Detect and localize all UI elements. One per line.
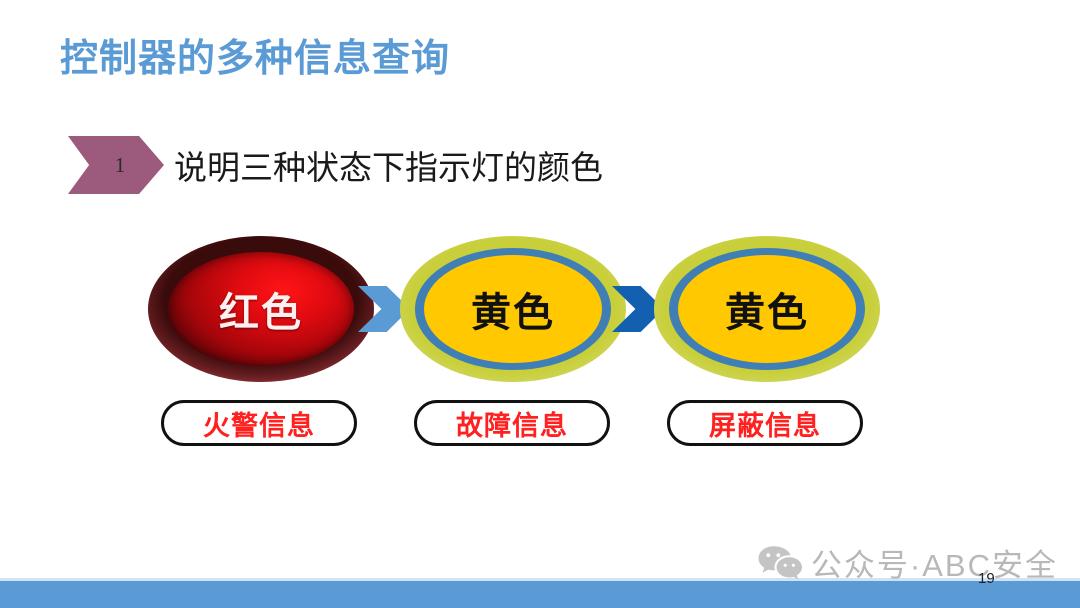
watermark: 公众号·ABC安全: [757, 540, 1058, 585]
status-light-yellow-isolate: 黄色: [654, 236, 880, 382]
caption-pill-fault: 故障信息: [414, 400, 610, 446]
caption-row: 火警信息 故障信息 屏蔽信息: [0, 400, 1080, 448]
watermark-text: 公众号·ABC安全: [811, 540, 1058, 585]
step-row: 1 说明三种状态下指示灯的颜色: [68, 136, 603, 194]
caption-pill-fire-alarm: 火警信息: [161, 400, 357, 446]
page-number: 19: [978, 570, 995, 587]
step-chevron-badge: 1: [68, 136, 164, 194]
caption-label-fire-alarm: 火警信息: [203, 404, 315, 443]
step-description: 说明三种状态下指示灯的颜色: [174, 141, 603, 189]
caption-label-isolate: 屏蔽信息: [709, 404, 821, 443]
caption-label-fault: 故障信息: [456, 404, 568, 443]
caption-pill-isolate: 屏蔽信息: [667, 400, 863, 446]
light-yellow-1-label: 黄色: [400, 236, 626, 382]
status-light-diagram: 红色 黄色 黄色: [0, 236, 1080, 386]
status-light-red: 红色: [148, 236, 374, 382]
page-title: 控制器的多种信息查询: [60, 27, 450, 82]
wechat-icon: [757, 545, 803, 581]
light-yellow-2-label: 黄色: [654, 236, 880, 382]
status-light-yellow-fault: 黄色: [400, 236, 626, 382]
light-red-label: 红色: [148, 236, 374, 382]
slide-canvas: 控制器的多种信息查询 1 说明三种状态下指示灯的颜色 红色 黄色 黄色 火警信息: [0, 0, 1080, 608]
step-number: 1: [115, 153, 126, 178]
